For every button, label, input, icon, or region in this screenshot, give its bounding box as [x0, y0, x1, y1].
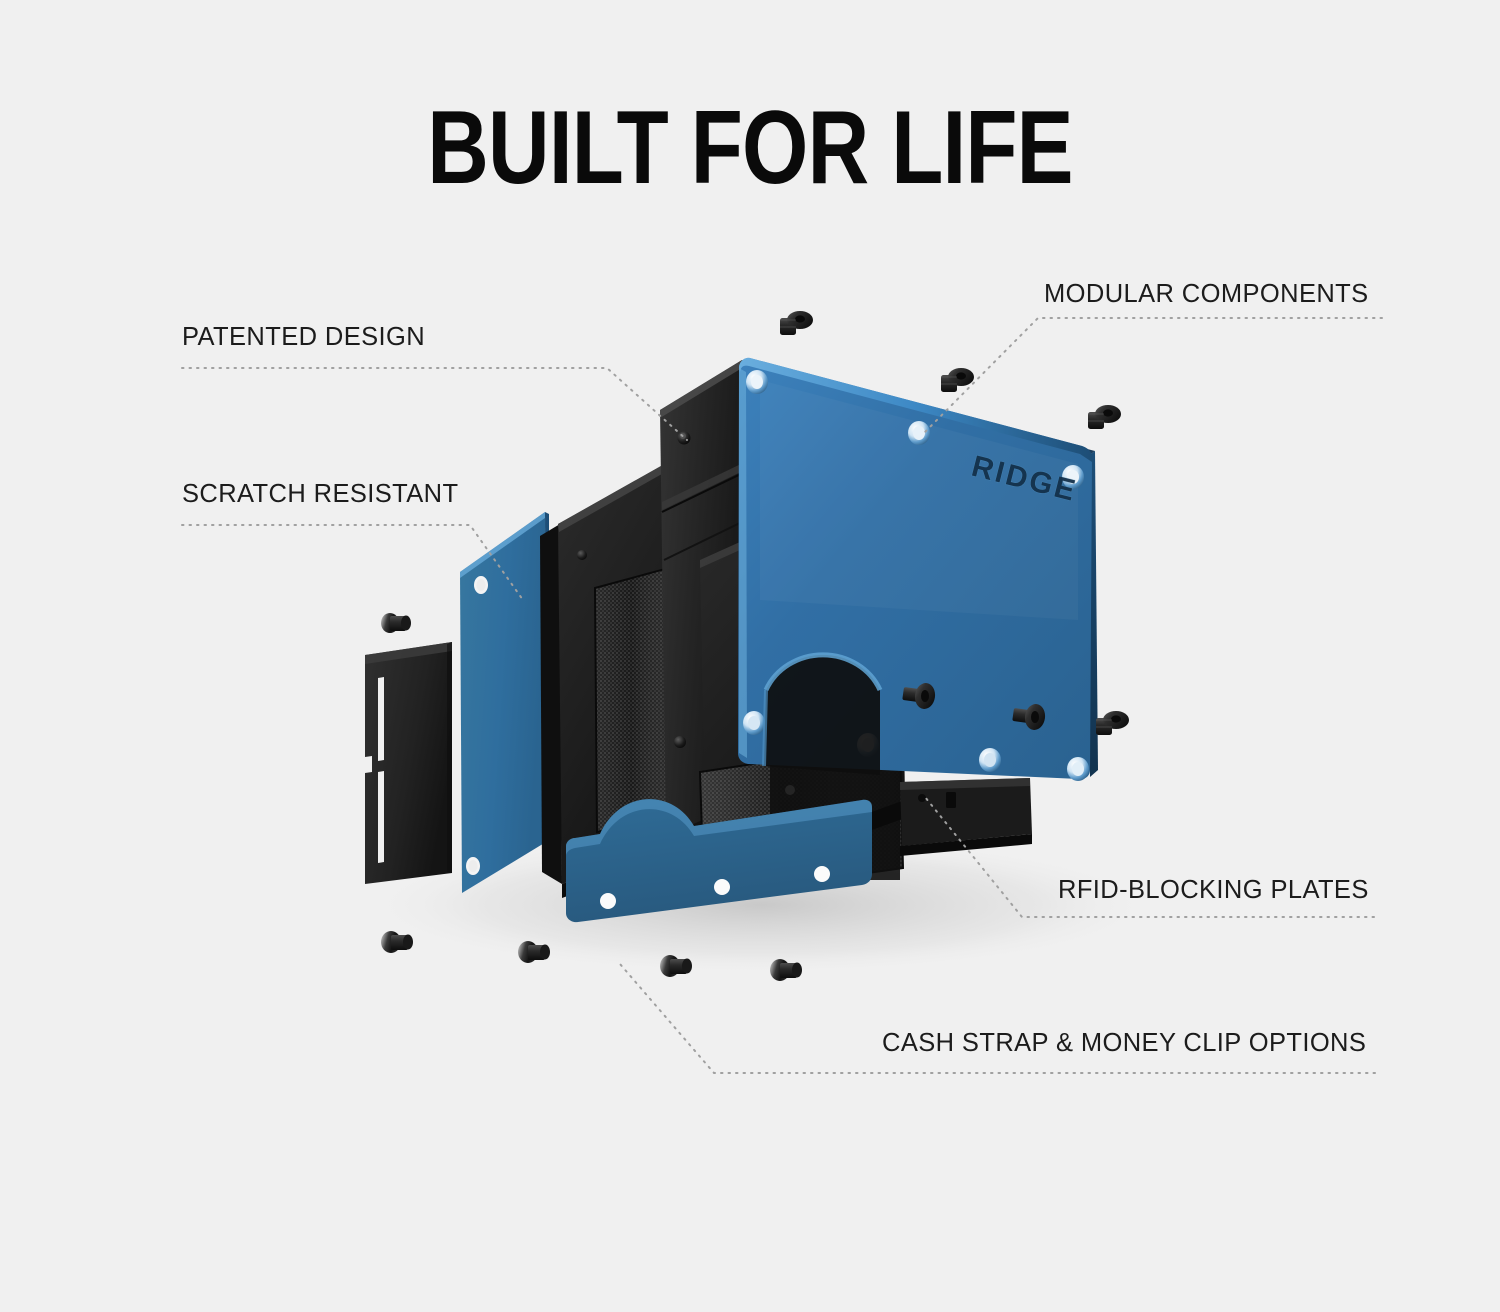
leader-scratch-resistant: [182, 525, 523, 600]
product-diagram: BUILT FOR LIFE: [0, 0, 1500, 1312]
callout-patented-design: PATENTED DESIGN: [182, 322, 425, 352]
leader-modular-components: [925, 318, 1382, 432]
callout-modular-components: MODULAR COMPONENTS: [1044, 279, 1369, 309]
leader-lines: [0, 0, 1500, 1312]
leader-patented-design: [182, 368, 687, 440]
callout-scratch-resistant: SCRATCH RESISTANT: [182, 479, 458, 509]
callout-cash-strap-money-clip: CASH STRAP & MONEY CLIP OPTIONS: [882, 1028, 1366, 1058]
callout-rfid-blocking-plates: RFID-BLOCKING PLATES: [1058, 875, 1369, 905]
